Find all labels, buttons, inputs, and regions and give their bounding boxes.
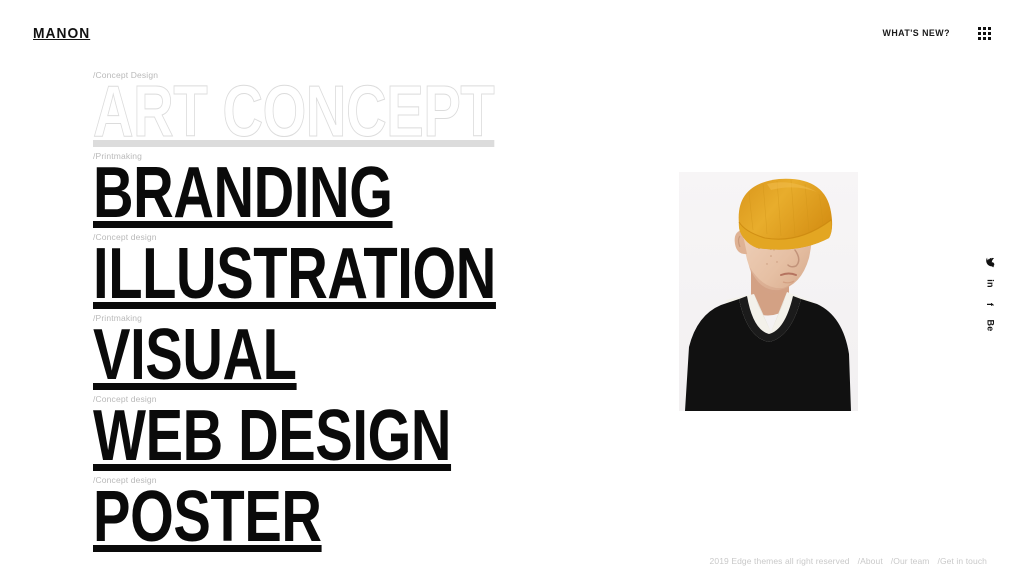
behance-icon[interactable]: Be (986, 320, 995, 332)
social-rail: in f Be (984, 258, 996, 330)
linkedin-icon[interactable]: in (986, 279, 995, 287)
grid-dot (978, 32, 981, 35)
footer-link-about[interactable]: /About (858, 556, 883, 566)
service-title-visual[interactable]: VISUAL (93, 326, 577, 385)
grid-dot (988, 27, 991, 30)
grid-dot (988, 37, 991, 40)
logo[interactable]: MANON (33, 26, 90, 41)
site-header: MANON WHAT'S NEW? (0, 0, 1024, 66)
service-title-web-design[interactable]: WEB DESIGN (93, 407, 577, 466)
grid-dot (983, 32, 986, 35)
footer-link-get-in-touch[interactable]: /Get in touch (938, 556, 988, 566)
grid-dot (978, 27, 981, 30)
grid-dots-icon[interactable] (978, 27, 991, 40)
services-list: /Concept Design ART CONCEPT /Printmaking… (93, 70, 713, 556)
twitter-icon[interactable] (986, 258, 995, 268)
header-nav: WHAT'S NEW? (880, 27, 992, 40)
service-item-branding: /Printmaking BRANDING (93, 151, 713, 223)
service-item-visual: /Printmaking VISUAL (93, 313, 713, 385)
grid-dot (983, 27, 986, 30)
grid-dot (978, 37, 981, 40)
service-title-branding[interactable]: BRANDING (93, 164, 577, 223)
service-item-illustration: /Concept design ILLUSTRATION (93, 232, 713, 304)
footer-copyright: 2019 Edge themes all right reserved (710, 556, 850, 566)
service-title-art-concept[interactable]: ART CONCEPT (93, 83, 577, 142)
service-item-poster: /Concept design POSTER (93, 475, 713, 547)
service-item-web-design: /Concept design WEB DESIGN (93, 394, 713, 466)
nav-whats-new[interactable]: WHAT'S NEW? (882, 28, 949, 39)
grid-dot (988, 32, 991, 35)
service-title-illustration[interactable]: ILLUSTRATION (93, 245, 577, 304)
grid-dot (983, 37, 986, 40)
service-item-art-concept: /Concept Design ART CONCEPT (93, 70, 713, 142)
service-title-poster[interactable]: POSTER (93, 488, 577, 547)
site-footer: 2019 Edge themes all right reserved /Abo… (710, 556, 987, 566)
facebook-icon[interactable]: f (986, 303, 995, 306)
footer-link-our-team[interactable]: /Our team (891, 556, 930, 566)
